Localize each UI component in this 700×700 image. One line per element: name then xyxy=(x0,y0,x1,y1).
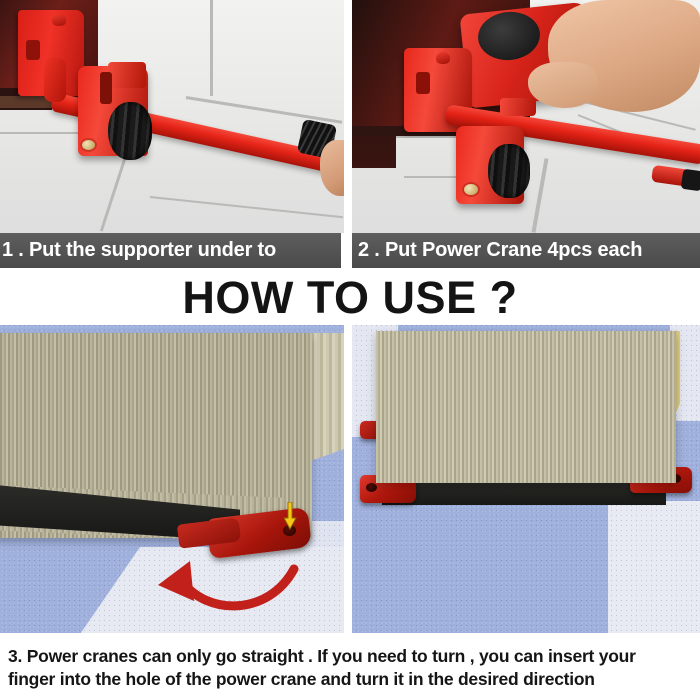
lever-arm-elbow xyxy=(44,58,66,102)
power-crane-finger-hole xyxy=(366,483,377,492)
step-1-caption: 1 . Put the supporter under to xyxy=(0,233,341,268)
page-title: HOW TO USE ? xyxy=(0,272,700,324)
supporter-bracket-notch xyxy=(26,40,40,60)
roller-wheel xyxy=(488,144,530,198)
step-3-note-line-1: 3. Power cranes can only go straight . I… xyxy=(8,646,636,666)
cabinet-front-panel xyxy=(376,331,676,483)
step-4-photo xyxy=(352,325,700,633)
roller-wheel xyxy=(108,102,152,160)
roller-housing-top xyxy=(108,62,146,88)
turn-direction-rotate-arrow-icon xyxy=(152,547,304,619)
roller-housing-slot xyxy=(100,72,112,104)
supporter-bracket-notch xyxy=(416,72,430,94)
step-1-photo xyxy=(0,0,344,233)
step-3-note-line-2: finger into the hole of the power crane … xyxy=(8,668,696,691)
supporter-bolt xyxy=(52,14,66,26)
step-3-note: 3. Power cranes can only go straight . I… xyxy=(8,645,696,692)
tile-grout-line xyxy=(404,176,464,178)
tile-grout-line xyxy=(0,132,80,134)
roller-axle-bolt xyxy=(80,138,97,152)
insert-finger-down-arrow-icon xyxy=(283,502,297,530)
step-2-caption: 2 . Put Power Crane 4pcs each xyxy=(352,233,700,268)
how-to-use-infographic: 1 . Put the supporter under to 2 . Put P… xyxy=(0,0,700,700)
supporter-bolt xyxy=(436,52,450,64)
lever-handle-grip xyxy=(681,169,700,192)
lever-arm-step xyxy=(500,98,536,116)
step-2-photo xyxy=(352,0,700,233)
tile-grout-line xyxy=(210,0,213,96)
roller-axle-bolt xyxy=(462,182,480,197)
step-3-photo xyxy=(0,325,344,633)
